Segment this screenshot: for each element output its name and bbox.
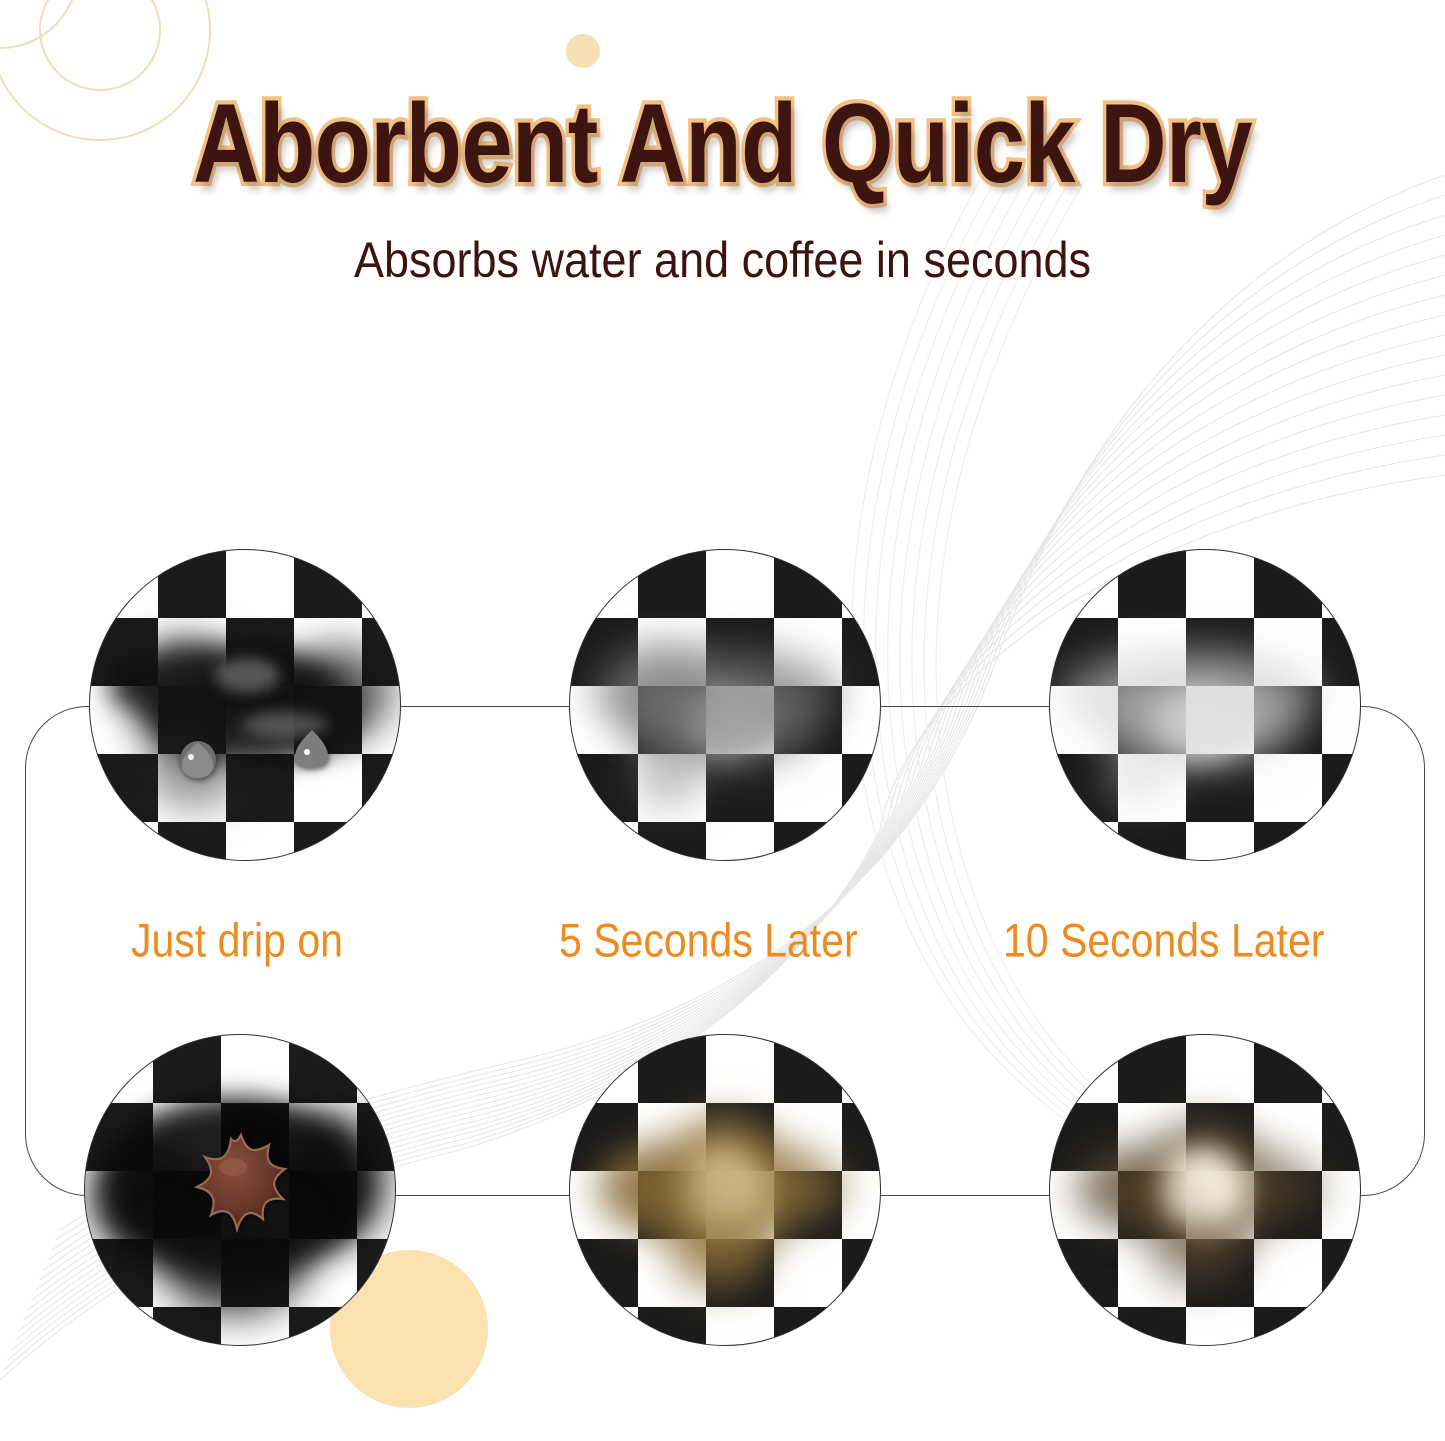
- coffee-stage-2-circle: [1049, 1034, 1361, 1346]
- water-droplet-icon-2: [286, 708, 334, 770]
- caption-10-seconds-later: 10 Seconds Later: [1003, 916, 1324, 966]
- water-stage-2-circle: [1049, 549, 1361, 861]
- water-stage-1-circle: [569, 549, 881, 861]
- coffee-stage-2-stain: [1050, 1035, 1360, 1345]
- water-stage-1-stain: [570, 550, 880, 860]
- page-subtitle: Absorbs water and coffee in seconds: [0, 232, 1445, 287]
- page-title: Aborbent And Quick Dry: [0, 88, 1445, 200]
- coffee-stage-0-stain: [85, 1035, 395, 1345]
- coffee-stage-1-stain: [570, 1035, 880, 1345]
- water-droplet-icon: [174, 712, 218, 780]
- water-stage-2-stain: [1050, 550, 1360, 860]
- product-infographic-poster: Aborbent And Quick Dry Absorbs water and…: [0, 0, 1445, 1441]
- coffee-stage-1-circle: [569, 1034, 881, 1346]
- coffee-splat-icon: [183, 1127, 303, 1247]
- coffee-stage-0-circle: [84, 1034, 396, 1346]
- caption-just-drip-on: Just drip on: [131, 916, 343, 966]
- water-stage-0-circle: [89, 549, 401, 861]
- accent-dot-top: [566, 34, 600, 68]
- caption-5-seconds-later: 5 Seconds Later: [559, 916, 858, 966]
- water-stage-0-stain: [90, 550, 400, 860]
